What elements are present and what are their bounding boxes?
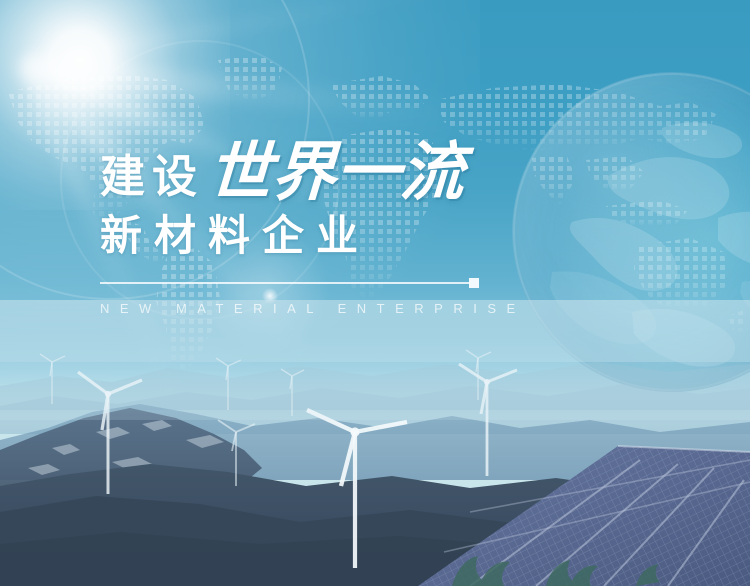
hero-banner: 建设 世界一流 新材料企业 NEW MATERIAL ENTERPRISE [0, 0, 750, 586]
headline-emphasis: 世界一流 [206, 140, 465, 204]
headline-line-2: 新材料企业 [100, 212, 520, 260]
sun-ray-icon [30, 0, 545, 69]
divider-rule [100, 282, 470, 284]
headline-prefix: 建设 [100, 154, 204, 204]
headline-block: 建设 世界一流 新材料企业 NEW MATERIAL ENTERPRISE [100, 132, 520, 316]
sun-ray-icon [27, 55, 547, 135]
landscape-scene [0, 300, 750, 586]
subtitle-text: NEW MATERIAL ENTERPRISE [100, 301, 520, 316]
earth-globe-icon [512, 72, 750, 392]
divider-cap [469, 278, 479, 288]
headline-line-1: 建设 世界一流 [100, 132, 520, 204]
